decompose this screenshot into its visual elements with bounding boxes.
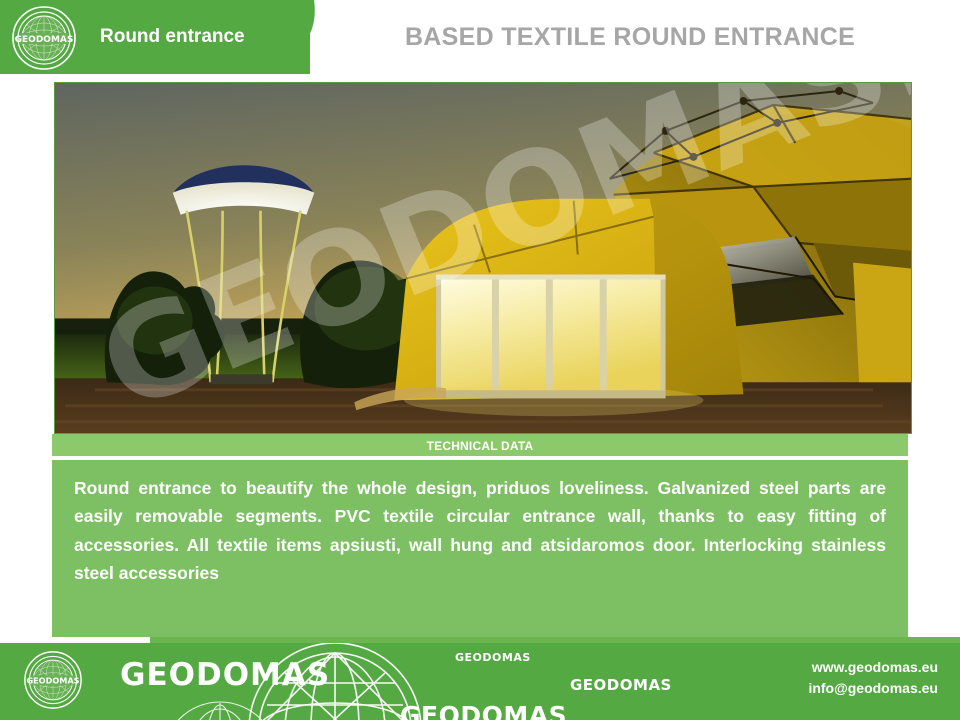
website-link[interactable]: www.geodomas.eu [808, 657, 938, 678]
footer-logo-icon: GEODOMAS [24, 651, 82, 709]
header-tab-label: Round entrance [100, 0, 245, 74]
footer-wordmark-small-c: GEODOMAS [400, 701, 567, 720]
header: GEODOMAS Round entrance BASED TEXTILE RO… [0, 0, 960, 74]
slide: GEODOMAS Round entrance BASED TEXTILE RO… [0, 0, 960, 720]
footer: GEODOMAS GEODOMAS GEODOMAS GEODOMAS GEOD… [0, 643, 960, 720]
footer-wordmark-small-a: GEODOMAS [455, 651, 531, 664]
logo-icon: GEODOMAS [12, 6, 76, 70]
render-illustration-icon: GEODOMAS.EU [55, 83, 911, 434]
contact-info: www.geodomas.eu info@geodomas.eu [808, 657, 938, 699]
description-panel: Round entrance to beautify the whole des… [52, 460, 908, 637]
page-title: BASED TEXTILE ROUND ENTRANCE [330, 0, 930, 74]
technical-data-label: TECHNICAL DATA [427, 439, 534, 453]
footer-wordmark: GEODOMAS [120, 657, 330, 693]
description-text: Round entrance to beautify the whole des… [74, 474, 886, 587]
svg-text:GEODOMAS: GEODOMAS [15, 35, 74, 45]
svg-text:GEODOMAS: GEODOMAS [26, 676, 79, 686]
email-link[interactable]: info@geodomas.eu [808, 678, 938, 699]
header-tab-curve-icon [292, 0, 332, 74]
footer-wordmark-small-b: GEODOMAS [570, 676, 672, 694]
product-image: GEODOMAS.EU [54, 82, 912, 434]
technical-data-bar: TECHNICAL DATA [52, 434, 908, 458]
